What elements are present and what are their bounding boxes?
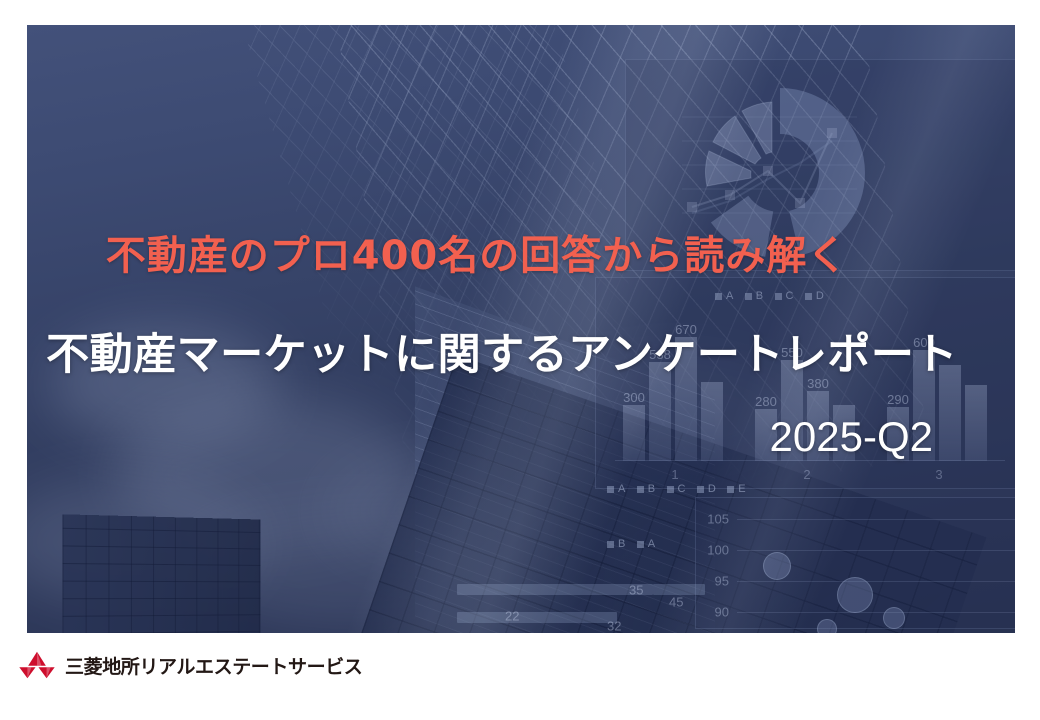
- legend-item: B: [637, 483, 656, 495]
- legend-label: A: [618, 483, 626, 495]
- legend-item: D: [805, 290, 824, 302]
- bar: [939, 365, 961, 461]
- legend-label: B: [756, 290, 764, 302]
- legend-item: C: [667, 483, 686, 495]
- horizontal-bar-chart: B A 35 45 22 32 30 40: [587, 570, 817, 633]
- bar-value-label: 380: [807, 376, 829, 391]
- legend-swatch: [775, 293, 782, 300]
- gridline: [737, 550, 1015, 551]
- bar-value-label: 280: [755, 394, 777, 409]
- bar-value-label: 600: [913, 335, 935, 350]
- legend-item: A: [637, 538, 656, 550]
- legend-label: A: [648, 538, 656, 550]
- bar: [965, 385, 987, 461]
- legend-swatch: [727, 486, 734, 493]
- bar: [887, 407, 909, 461]
- bar-category-label: 3: [935, 467, 942, 482]
- hbar: [457, 612, 617, 623]
- skyscraper-foreground-left: [62, 514, 260, 633]
- hbar: [457, 584, 653, 595]
- bar-category-label: 1: [671, 467, 678, 482]
- legend-swatch: [637, 541, 644, 548]
- y-axis-tick: 105: [695, 512, 729, 527]
- legend-swatch: [745, 293, 752, 300]
- bar: [807, 391, 829, 461]
- legend-label: D: [708, 483, 716, 495]
- bar-value-label: 550: [781, 345, 803, 360]
- horizontal-bar-chart-legend: B A: [607, 538, 656, 550]
- mitsubishi-three-diamonds-icon: [18, 651, 56, 679]
- legend-swatch: [607, 541, 614, 548]
- legend-label: E: [738, 483, 746, 495]
- legend-swatch: [697, 486, 704, 493]
- legend-swatch: [715, 293, 722, 300]
- legend-item: A: [607, 483, 626, 495]
- bar: [913, 350, 935, 461]
- bar: [675, 337, 697, 461]
- bar: [623, 405, 645, 461]
- bubble-point: [817, 619, 837, 633]
- hbar-value-label: 35: [629, 583, 643, 598]
- company-name: 三菱地所リアルエステートサービス: [65, 652, 362, 679]
- legend-label: B: [648, 483, 656, 495]
- hbar-value-label: 22: [505, 609, 519, 624]
- legend-swatch: [607, 486, 614, 493]
- legend-swatch: [805, 293, 812, 300]
- line-chart: [682, 103, 857, 233]
- title-slide: A B C D 300 538: [0, 0, 1040, 720]
- legend-item: C: [775, 290, 794, 302]
- gridline: [737, 519, 1015, 520]
- bubble-point: [883, 607, 905, 629]
- legend-item: A: [715, 290, 734, 302]
- bar: [755, 409, 777, 461]
- hbar: [653, 584, 705, 595]
- bar-chart-legend: A B C D: [715, 290, 824, 302]
- legend-label: C: [786, 290, 794, 302]
- hbar-value-label: 32: [607, 619, 621, 634]
- footer-logo: 三菱地所リアルエステートサービス: [18, 645, 362, 685]
- bar-category-label: 2: [803, 467, 810, 482]
- bar-value-label: 538: [649, 347, 671, 362]
- bar-value-label: 290: [887, 392, 909, 407]
- bar: [701, 382, 723, 461]
- legend-label: A: [726, 290, 734, 302]
- legend-item: B: [745, 290, 764, 302]
- bar-value-label: 300: [623, 390, 645, 405]
- legend-item: E: [727, 483, 746, 495]
- hero-background-image: A B C D 300 538: [27, 25, 1015, 633]
- legend-label: D: [816, 290, 824, 302]
- legend-swatch: [637, 486, 644, 493]
- bar: [833, 405, 855, 461]
- bubble-point: [837, 577, 873, 613]
- legend-swatch: [667, 486, 674, 493]
- legend-item: D: [697, 483, 716, 495]
- legend-label: B: [618, 538, 626, 550]
- y-axis-tick: 100: [695, 543, 729, 558]
- grouped-bar-chart: 300 538 670 280 550 380 290 600 1 2 3: [615, 321, 1005, 461]
- bar: [649, 362, 671, 461]
- abcde-legend: A B C D E: [607, 483, 746, 495]
- bar: [781, 360, 803, 461]
- legend-label: C: [678, 483, 686, 495]
- bar-value-label: 670: [675, 322, 697, 337]
- hbar-value-label: 45: [669, 595, 683, 610]
- legend-item: B: [607, 538, 626, 550]
